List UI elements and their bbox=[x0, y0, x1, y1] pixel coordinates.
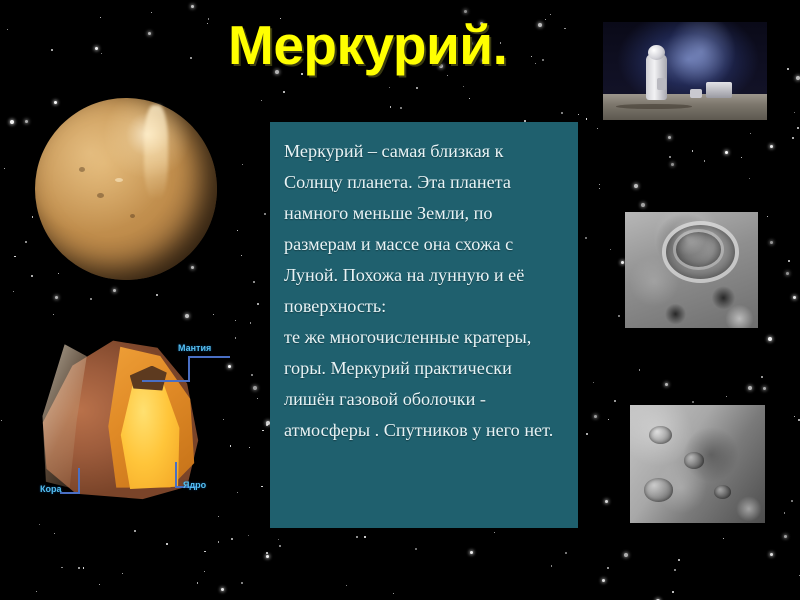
star bbox=[4, 168, 5, 169]
astronaut-backpack bbox=[657, 78, 666, 90]
star bbox=[704, 160, 705, 161]
star bbox=[1, 420, 2, 421]
star bbox=[257, 303, 259, 305]
star bbox=[618, 315, 620, 317]
star bbox=[470, 551, 473, 554]
star bbox=[621, 261, 624, 264]
star bbox=[191, 5, 194, 8]
star bbox=[100, 17, 101, 18]
inner-crater-rim bbox=[673, 229, 724, 270]
label-mantle: Мантия bbox=[178, 343, 211, 353]
star bbox=[578, 114, 579, 115]
star bbox=[669, 156, 671, 158]
star bbox=[55, 296, 58, 299]
star bbox=[190, 57, 192, 59]
star bbox=[356, 536, 358, 538]
star bbox=[58, 273, 59, 274]
star bbox=[561, 112, 563, 114]
star bbox=[593, 382, 594, 383]
crater-pit bbox=[649, 426, 672, 444]
star bbox=[786, 272, 789, 275]
star bbox=[25, 120, 28, 123]
star bbox=[597, 128, 598, 129]
star bbox=[148, 32, 151, 35]
star bbox=[266, 555, 269, 558]
star bbox=[51, 49, 53, 51]
star bbox=[257, 398, 258, 399]
star bbox=[393, 593, 394, 594]
star bbox=[791, 500, 793, 502]
core-leader-line bbox=[175, 462, 177, 488]
star bbox=[25, 241, 27, 243]
star bbox=[261, 486, 262, 487]
star bbox=[249, 447, 250, 448]
astronaut-on-surface-photo bbox=[603, 22, 767, 120]
star bbox=[185, 314, 189, 318]
star bbox=[599, 184, 600, 185]
star bbox=[166, 543, 167, 544]
star bbox=[90, 298, 92, 300]
star bbox=[748, 386, 752, 390]
star bbox=[61, 567, 62, 568]
star bbox=[230, 445, 231, 446]
star bbox=[531, 56, 532, 57]
label-crust: Кора bbox=[40, 484, 62, 494]
star bbox=[726, 396, 727, 397]
star bbox=[389, 87, 390, 88]
star bbox=[54, 101, 57, 104]
star bbox=[266, 552, 268, 554]
star bbox=[264, 213, 266, 215]
label-core: Ядро bbox=[183, 480, 206, 490]
star bbox=[197, 582, 198, 583]
star bbox=[749, 178, 750, 179]
star bbox=[228, 365, 231, 368]
star bbox=[586, 118, 587, 119]
star bbox=[585, 237, 587, 239]
star bbox=[7, 29, 8, 30]
presentation-slide: Меркурий. Мантия Кора Ядро Меркурий – са… bbox=[0, 0, 800, 600]
star bbox=[794, 416, 795, 417]
star bbox=[641, 203, 645, 207]
mercury-planet-photo bbox=[35, 98, 217, 280]
astronaut-suit bbox=[646, 54, 667, 100]
cratered-surface-photo bbox=[625, 212, 758, 328]
star bbox=[551, 565, 552, 566]
star bbox=[83, 567, 84, 568]
star bbox=[788, 260, 790, 262]
star bbox=[671, 163, 674, 166]
star bbox=[797, 127, 799, 129]
star bbox=[545, 19, 546, 20]
star bbox=[793, 296, 796, 299]
star bbox=[250, 322, 251, 323]
star bbox=[241, 582, 243, 584]
star bbox=[261, 100, 262, 101]
cratered-terrain-photo bbox=[630, 405, 765, 523]
star bbox=[794, 112, 795, 113]
star bbox=[235, 337, 236, 338]
star bbox=[639, 369, 640, 370]
crater-pit bbox=[684, 452, 704, 469]
star bbox=[231, 538, 233, 540]
star bbox=[605, 500, 608, 503]
star bbox=[237, 492, 238, 493]
star bbox=[672, 591, 674, 593]
star bbox=[723, 538, 724, 539]
star bbox=[31, 275, 33, 277]
star bbox=[235, 320, 236, 321]
star bbox=[678, 559, 680, 561]
star bbox=[415, 548, 417, 550]
star bbox=[14, 256, 15, 257]
star bbox=[95, 47, 98, 50]
star bbox=[535, 63, 536, 64]
star bbox=[191, 266, 194, 269]
crater-pit bbox=[644, 478, 674, 502]
star bbox=[156, 294, 158, 296]
star bbox=[54, 533, 55, 534]
star bbox=[204, 571, 205, 572]
star bbox=[761, 376, 763, 378]
star bbox=[767, 216, 768, 217]
star bbox=[614, 400, 616, 402]
star bbox=[692, 401, 694, 403]
star bbox=[784, 535, 787, 538]
star bbox=[550, 14, 551, 15]
mantle-leader-line bbox=[188, 356, 230, 358]
star bbox=[207, 23, 208, 24]
star bbox=[692, 150, 693, 151]
star bbox=[586, 433, 588, 435]
planet-crater-speck bbox=[79, 167, 85, 172]
star bbox=[463, 86, 464, 87]
star bbox=[750, 133, 751, 134]
star bbox=[610, 249, 611, 250]
star bbox=[416, 87, 418, 89]
star bbox=[278, 539, 279, 540]
star bbox=[253, 386, 257, 390]
star bbox=[39, 524, 40, 525]
star bbox=[248, 535, 249, 536]
star bbox=[283, 91, 285, 93]
star bbox=[151, 12, 152, 13]
star bbox=[122, 573, 123, 574]
lunar-ground bbox=[603, 94, 767, 120]
star bbox=[78, 567, 80, 569]
star bbox=[594, 415, 597, 418]
star bbox=[101, 53, 102, 54]
star bbox=[763, 387, 766, 390]
star bbox=[796, 76, 800, 80]
star bbox=[400, 107, 402, 109]
star bbox=[668, 136, 671, 139]
star bbox=[608, 419, 609, 420]
star bbox=[564, 28, 565, 29]
star bbox=[538, 23, 542, 27]
star bbox=[221, 588, 224, 591]
star bbox=[565, 552, 567, 554]
star bbox=[251, 374, 253, 376]
planet-bright-speck bbox=[115, 178, 123, 182]
star bbox=[665, 383, 668, 386]
star bbox=[10, 120, 14, 124]
star bbox=[237, 230, 238, 231]
star bbox=[725, 151, 728, 154]
star bbox=[469, 98, 470, 99]
star bbox=[204, 551, 205, 552]
star bbox=[208, 18, 209, 19]
star bbox=[113, 289, 116, 292]
star bbox=[242, 164, 243, 165]
description-textbox: Меркурий – самая близкая к Солнцу планет… bbox=[270, 122, 578, 528]
star bbox=[346, 585, 347, 586]
star bbox=[770, 145, 773, 148]
star bbox=[599, 188, 600, 189]
star bbox=[223, 419, 224, 420]
star bbox=[770, 241, 773, 244]
star bbox=[262, 430, 263, 431]
star bbox=[792, 137, 793, 138]
star bbox=[364, 536, 365, 537]
planet-crater-speck bbox=[97, 193, 104, 198]
star bbox=[390, 106, 391, 107]
star bbox=[464, 10, 467, 13]
mantle-leader-line bbox=[142, 380, 190, 382]
star bbox=[99, 584, 100, 585]
crust-leader-line bbox=[60, 492, 80, 494]
star bbox=[218, 541, 219, 542]
lunar-rover bbox=[706, 82, 732, 98]
star bbox=[741, 157, 742, 158]
star bbox=[134, 530, 136, 532]
star bbox=[36, 591, 37, 592]
crust-leader-line bbox=[78, 468, 80, 494]
star bbox=[13, 291, 14, 292]
star bbox=[768, 337, 772, 341]
star bbox=[770, 553, 773, 556]
star bbox=[542, 59, 544, 61]
star bbox=[624, 553, 628, 557]
star bbox=[494, 532, 495, 533]
page-title: Меркурий. bbox=[228, 18, 507, 73]
astronaut-helmet bbox=[648, 45, 665, 60]
star bbox=[674, 569, 676, 571]
mantle-leader-line bbox=[188, 358, 190, 382]
star bbox=[607, 567, 609, 569]
star bbox=[634, 184, 638, 188]
star bbox=[53, 314, 54, 315]
star bbox=[279, 545, 281, 547]
star bbox=[32, 216, 33, 217]
planet-highlight-streak bbox=[144, 105, 168, 200]
crater-pit bbox=[714, 485, 732, 499]
planet-crater-speck bbox=[130, 214, 135, 218]
description-text: Меркурий – самая близкая к Солнцу планет… bbox=[284, 136, 566, 446]
star bbox=[787, 68, 789, 70]
star bbox=[213, 314, 214, 315]
star bbox=[241, 255, 242, 256]
star bbox=[784, 512, 785, 513]
star bbox=[253, 281, 255, 283]
star bbox=[602, 579, 605, 582]
star bbox=[218, 516, 219, 517]
